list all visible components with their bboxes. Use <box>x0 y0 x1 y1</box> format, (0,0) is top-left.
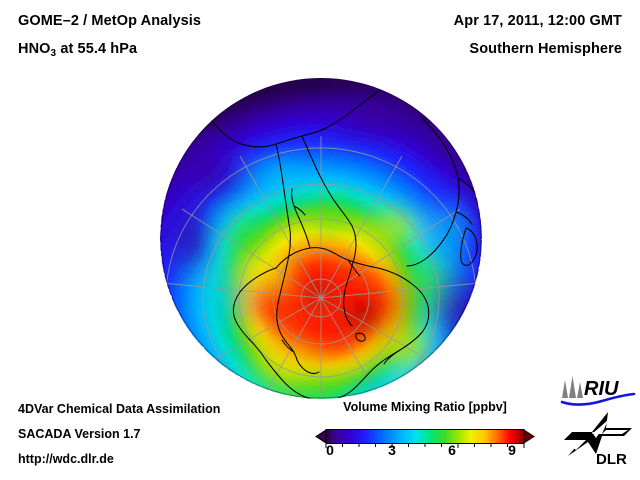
colorbar-right-arrow <box>524 430 534 443</box>
colorbar-title: Volume Mixing Ratio [ppbv] <box>300 400 550 414</box>
colorbar-tick-9: 9 <box>508 442 516 458</box>
colorbar-tick-0: 0 <box>326 442 334 458</box>
dlr-logo: DLR <box>562 410 636 468</box>
hno3-heatmap-svg <box>160 78 482 399</box>
figure-canvas: GOME–2 / MetOp Analysis HNO3 at 55.4 hPa… <box>0 0 640 480</box>
hemisphere-label: Southern Hemisphere <box>469 41 622 57</box>
colorbar-tick-3: 3 <box>388 442 396 458</box>
globe-map <box>160 78 482 399</box>
credit-url[interactable]: http://wdc.dlr.de <box>18 452 114 466</box>
colorbar-left-arrow <box>316 430 326 443</box>
page-title: GOME–2 / MetOp Analysis <box>18 13 201 29</box>
species-subtitle: HNO3 at 55.4 hPa <box>18 41 137 59</box>
riu-spires-icon <box>562 376 583 398</box>
date-label: Apr 17, 2011, 12:00 GMT <box>454 13 622 29</box>
species-suffix: at 55.4 hPa <box>56 41 137 57</box>
credit-line-2: SACADA Version 1.7 <box>18 427 141 441</box>
colorbar-gradient <box>326 430 524 444</box>
dlr-mark-icon <box>564 412 632 456</box>
species-prefix: HNO <box>18 41 51 57</box>
credit-line-1: 4DVar Chemical Data Assimilation <box>18 402 220 416</box>
riu-logo: RIU <box>560 374 636 408</box>
dlr-wordmark: DLR <box>596 451 627 468</box>
globe-disc <box>160 78 482 399</box>
field-layer <box>160 78 482 399</box>
colorbar: Volume Mixing Ratio [ppbv] <box>300 398 550 480</box>
colorbar-minor-ticks <box>326 444 524 449</box>
colorbar-tick-6: 6 <box>448 442 456 458</box>
